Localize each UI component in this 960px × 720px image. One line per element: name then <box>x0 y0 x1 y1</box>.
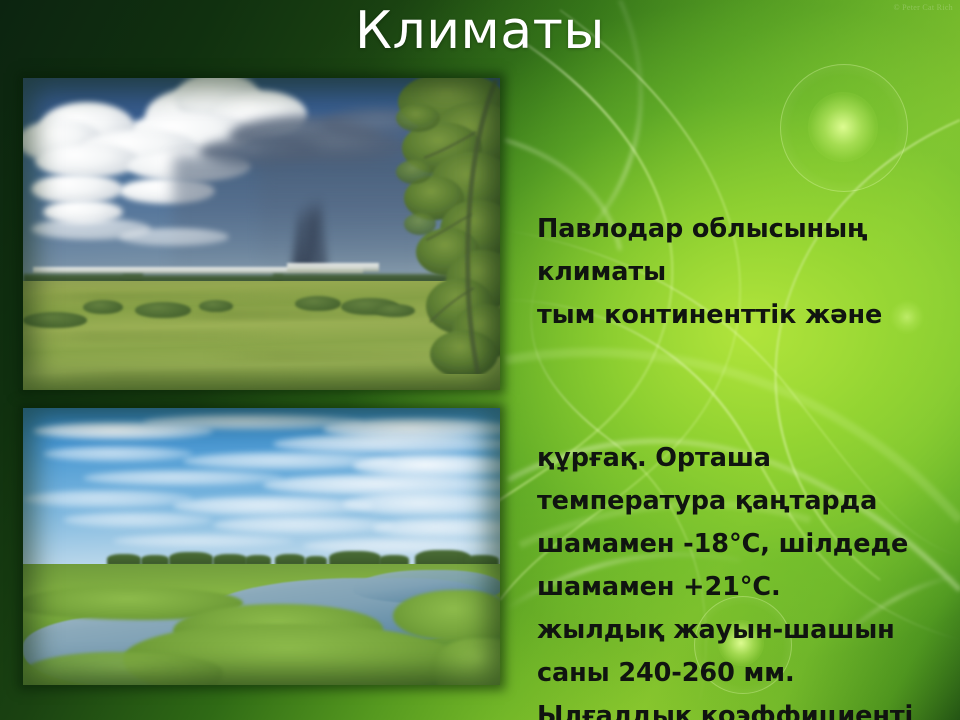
watermark-text: © Peter Cat Rich <box>893 3 953 12</box>
presentation-slide: Климаты © Peter Cat Rich <box>0 0 960 720</box>
paragraph-1: Павлодар облысының климаты тым континент… <box>537 208 949 337</box>
climate-description-text: Павлодар облысының климаты тым континент… <box>537 122 949 720</box>
paragraph-2: құрғақ. Орташа температура қаңтарда шама… <box>537 437 949 720</box>
river-meadow-photo <box>23 408 500 685</box>
foreground-tree <box>356 78 500 374</box>
page-title: Климаты <box>0 4 960 59</box>
steppe-storm-photo <box>23 78 500 390</box>
